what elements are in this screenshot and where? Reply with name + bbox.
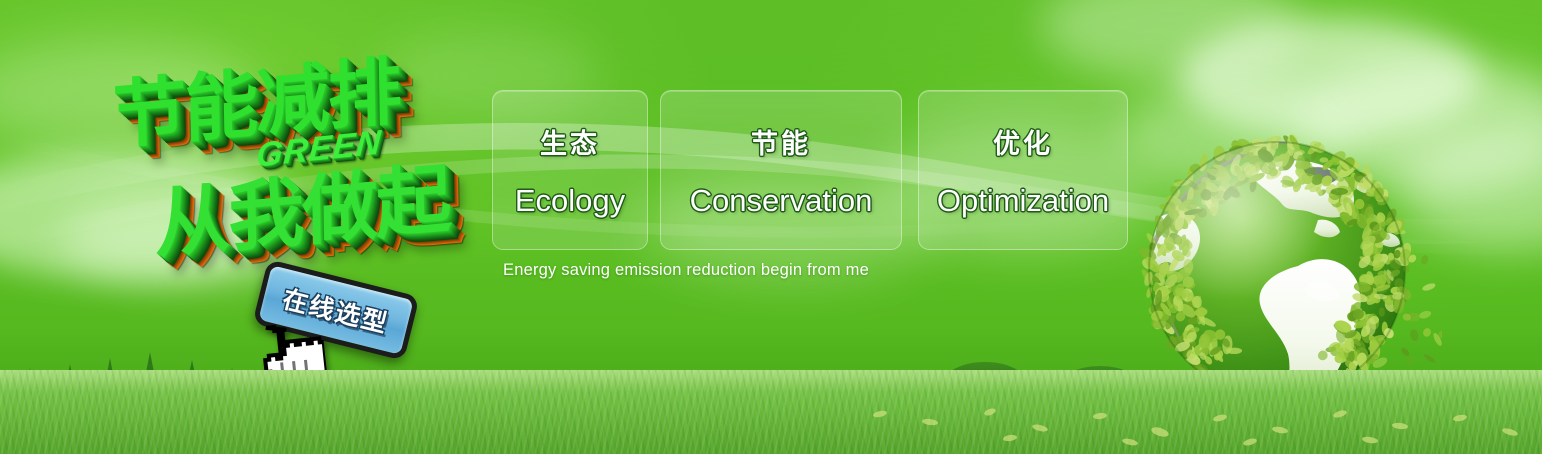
feature-card-title-cn: 节能 [751,122,811,161]
feature-card-title-cn: 生态 [540,122,600,161]
feature-card-title-en: Optimization [937,183,1109,219]
feature-card-title-en: Conservation [690,183,873,219]
eco-promotional-banner: 节能减排 从我做起 GREEN 生态 Ecology 节能 Conservati… [0,0,1542,454]
feature-card-title-en: Ecology [515,183,625,219]
feature-card-optimization[interactable]: 优化 Optimization [918,90,1128,250]
feature-card-title-cn: 优化 [993,122,1053,161]
banner-tagline: Energy saving emission reduction begin f… [503,261,869,280]
feature-card-conservation[interactable]: 节能 Conservation [660,90,902,250]
meadow-texture [0,370,1542,454]
feature-card-ecology[interactable]: 生态 Ecology [492,90,648,250]
